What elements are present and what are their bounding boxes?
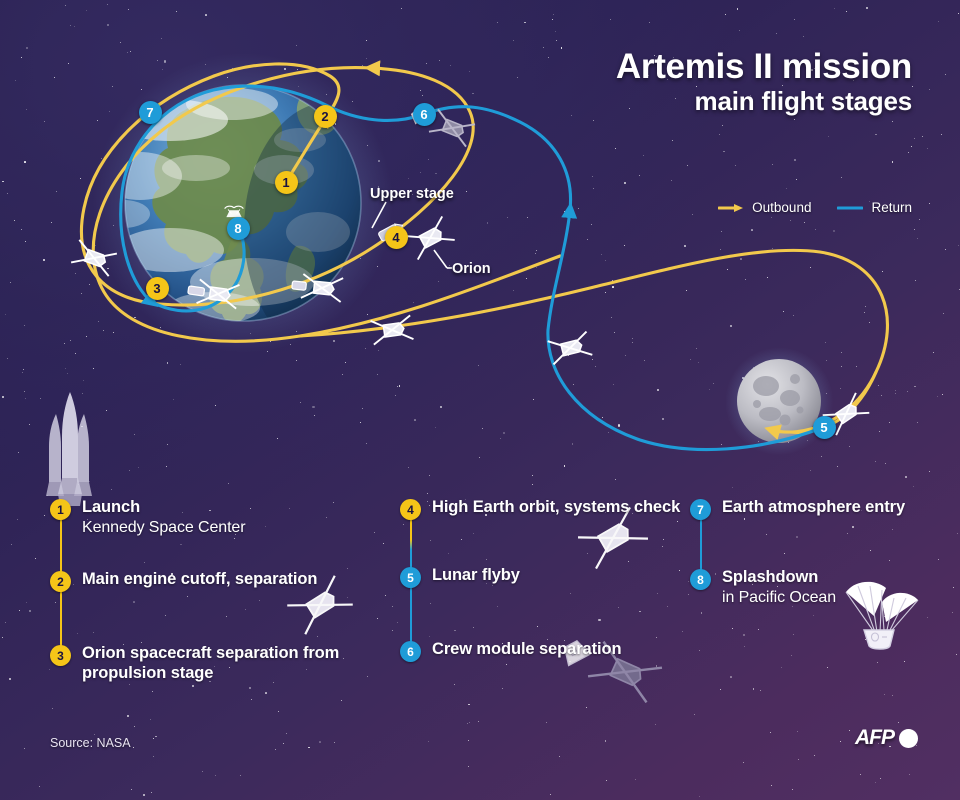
legend: Outbound Return [718,200,912,215]
afp-logo-text: AFP [855,726,894,750]
stage-connector [700,510,703,578]
stage-marker-4: 4 [400,499,421,520]
line-icon [837,203,863,213]
flight-stage-list: 1LaunchKennedy Space Center2Main engine … [0,498,960,728]
stage-title-6: Crew module separation [432,640,712,660]
map-label-upper-stage: Upper stage [370,186,454,202]
stage-item-3: 3Orion spacecraft separation from propul… [50,644,422,683]
page-title: Artemis II mission [616,48,912,86]
orbit-pin-8: 8 [227,217,250,240]
source-credit: Source: NASA [50,736,131,750]
title-block: Artemis II mission main flight stages [616,48,912,117]
stage-item-2: 2Main engine cutoff, separation [50,570,422,590]
stage-item-6: 6Crew module separation [400,640,712,660]
stage-subtitle-1: Kennedy Space Center [82,518,422,537]
stage-item-7: 7Earth atmosphere entry [690,498,960,518]
stage-marker-3: 3 [50,645,71,666]
page-subtitle: main flight stages [616,87,912,117]
stage-connector [410,578,413,650]
stage-marker-8: 8 [690,569,711,590]
legend-item-outbound: Outbound [718,200,811,215]
stage-connector [60,582,63,654]
sls-rocket-illustration [46,392,92,506]
orbit-pin-5: 5 [813,416,836,439]
stage-marker-2: 2 [50,571,71,592]
stage-item-5: 5Lunar flyby [400,566,712,586]
infographic-canvas: Upper stage Orion Artemis II mission mai… [0,0,960,800]
stage-title-2: Main engine cutoff, separation [82,570,422,590]
legend-label-outbound: Outbound [752,200,811,215]
stage-connector [60,510,63,580]
stage-marker-5: 5 [400,567,421,588]
stage-marker-1: 1 [50,499,71,520]
orbit-pin-1: 1 [275,171,298,194]
legend-item-return: Return [837,200,912,215]
stage-subtitle-8: in Pacific Ocean [722,588,960,607]
orbit-pin-7: 7 [139,101,162,124]
stage-title-4: High Earth orbit, systems check [432,498,712,518]
stage-item-1: 1LaunchKennedy Space Center [50,498,422,537]
stage-item-8: 8Splashdownin Pacific Ocean [690,568,960,607]
afp-logo: AFP [855,726,918,750]
earth-globe [93,53,416,358]
stage-marker-7: 7 [690,499,711,520]
stage-title-5: Lunar flyby [432,566,712,586]
orbit-pin-3: 3 [146,277,169,300]
afp-logo-dot [899,729,918,748]
orbit-pin-4: 4 [385,226,408,249]
legend-label-return: Return [871,200,912,215]
stage-marker-6: 6 [400,641,421,662]
map-label-orion: Orion [452,261,491,277]
stage-item-4: 4High Earth orbit, systems check [400,498,712,518]
orbit-pin-2: 2 [314,105,337,128]
moon-globe [725,347,833,455]
arrow-line-icon [718,203,744,213]
stage-title-8: Splashdown [722,568,960,588]
stage-title-3: Orion spacecraft separation from propuls… [82,644,422,683]
orbit-pin-6: 6 [413,103,436,126]
stage-title-1: Launch [82,498,422,518]
stage-title-7: Earth atmosphere entry [722,498,960,518]
